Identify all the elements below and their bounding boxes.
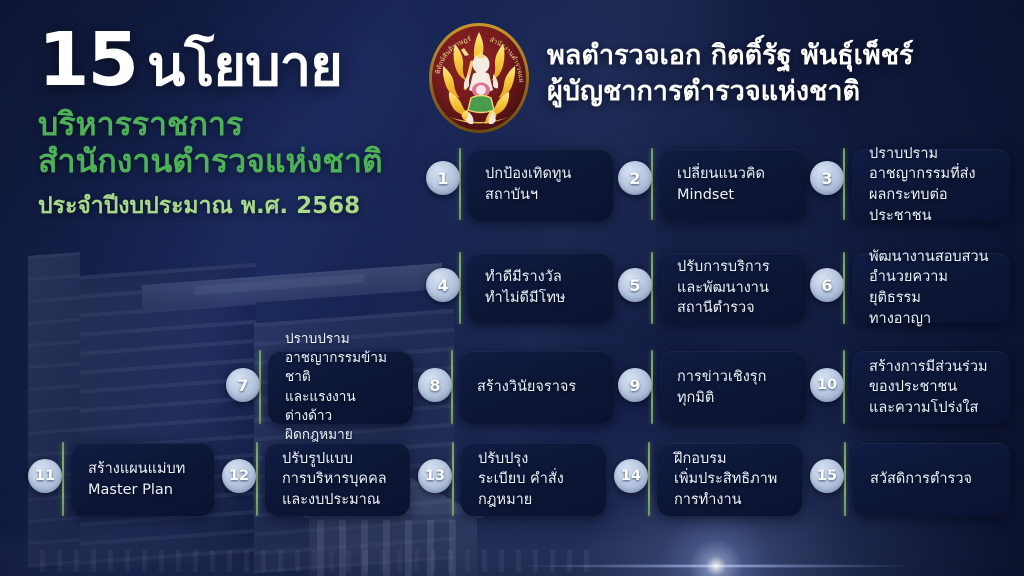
- policy-card-11[interactable]: สร้างแผนแม่บท Master Plan: [71, 443, 214, 516]
- policy-badge-5[interactable]: 5: [618, 268, 652, 302]
- policy-accent-1: [459, 148, 461, 220]
- policy-text-4: ทำดีมีรางวัล ทำไม่ดีมีโทษ: [468, 267, 579, 308]
- policy-text-1: ปกป้องเทิดทูน สถาบันฯ: [468, 164, 585, 205]
- policy-card-12[interactable]: ปรับรูปแบบ การบริหารบุคคล และงบประมาณ: [265, 443, 410, 516]
- policy-badge-2[interactable]: 2: [618, 161, 652, 195]
- policy-text-3: ปราบปราม อาชญากรรมที่ส่ง ผลกระทบต่อประชา…: [852, 144, 1010, 226]
- policy-text-6: พัฒนางานสอบสวน อำนวยความยุติธรรม ทางอาญา: [852, 247, 1010, 329]
- policy-text-11: สร้างแผนแม่บท Master Plan: [71, 459, 199, 500]
- policy-text-9: การข่าวเชิงรุก ทุกมิติ: [660, 367, 780, 408]
- policy-accent-13: [452, 442, 454, 516]
- officer-identity-block: พิทักษ์สันติราษฎร์ สำนักงานตำรวจแห่งชาติ…: [425, 18, 914, 138]
- poster-title-block: 15นโยบาย บริหารราชการ สำนักงานตำรวจแห่งช…: [38, 24, 418, 224]
- building-base-watermark: [0, 530, 640, 576]
- policy-text-7: ปราบปราม อาชญากรรมข้ามชาติ และแรงงานต่าง…: [268, 330, 413, 446]
- policy-text-14: ฝึกอบรม เพิ่มประสิทธิภาพ การทำงาน: [657, 449, 791, 511]
- poster-root: 15นโยบาย บริหารราชการ สำนักงานตำรวจแห่งช…: [0, 0, 1024, 576]
- policy-card-4[interactable]: ทำดีมีรางวัล ทำไม่ดีมีโทษ: [468, 253, 613, 323]
- policy-text-12: ปรับรูปแบบ การบริหารบุคคล และงบประมาณ: [265, 449, 401, 511]
- policy-badge-11[interactable]: 11: [28, 459, 62, 493]
- policy-card-10[interactable]: สร้างการมีส่วนร่วม ของประชาชน และความโปร…: [852, 351, 1010, 424]
- policy-accent-3: [843, 148, 845, 220]
- policy-badge-12[interactable]: 12: [222, 459, 256, 493]
- policy-count-word: นโยบาย: [147, 34, 342, 99]
- policy-card-9[interactable]: การข่าวเชิงรุก ทุกมิติ: [660, 351, 806, 424]
- policy-card-8[interactable]: สร้างวินัยจราจร: [460, 351, 613, 424]
- policy-card-14[interactable]: ฝึกอบรม เพิ่มประสิทธิภาพ การทำงาน: [657, 443, 802, 516]
- policy-text-15: สวัสดิการตำรวจ: [853, 469, 986, 490]
- policy-text-13: ปรับปรุง ระเบียบ คำสั่ง กฎหมาย: [461, 449, 578, 511]
- officer-position-title: ผู้บัญชาการตำรวจแห่งชาติ: [547, 74, 914, 110]
- policy-badge-7[interactable]: 7: [226, 368, 260, 402]
- subtitle-green: บริหารราชการ สำนักงานตำรวจแห่งชาติ: [38, 106, 418, 180]
- policy-card-3[interactable]: ปราบปราม อาชญากรรมที่ส่ง ผลกระทบต่อประชา…: [852, 149, 1010, 221]
- policy-text-10: สร้างการมีส่วนร่วม ของประชาชน และความโปร…: [852, 357, 1002, 419]
- officer-rank-and-name: พลตำรวจเอก กิตติ์รัฐ พันธุ์เพ็ชร์: [547, 38, 914, 74]
- policy-badge-4[interactable]: 4: [426, 268, 460, 302]
- policy-card-2[interactable]: เปลี่ยนแนวคิด Mindset: [660, 149, 806, 221]
- policy-badge-6[interactable]: 6: [810, 268, 844, 302]
- policy-card-1[interactable]: ปกป้องเทิดทูน สถาบันฯ: [468, 149, 613, 221]
- policy-card-5[interactable]: ปรับการบริการ และพัฒนางาน สถานีตำรวจ: [660, 253, 806, 323]
- lens-flare-streak: [436, 562, 996, 570]
- policy-accent-2: [651, 148, 653, 220]
- policy-accent-12: [256, 442, 258, 516]
- policy-card-6[interactable]: พัฒนางานสอบสวน อำนวยความยุติธรรม ทางอาญา: [852, 253, 1010, 323]
- policy-badge-10[interactable]: 10: [810, 368, 844, 402]
- policy-accent-15: [844, 442, 846, 516]
- policy-text-8: สร้างวินัยจราจร: [460, 377, 590, 398]
- lens-flare-core: [656, 506, 776, 576]
- policy-accent-14: [648, 442, 650, 516]
- policy-badge-9[interactable]: 9: [618, 368, 652, 402]
- policy-badge-14[interactable]: 14: [614, 459, 648, 493]
- policy-badge-3[interactable]: 3: [810, 161, 844, 195]
- policy-card-15[interactable]: สวัสดิการตำรวจ: [853, 443, 1010, 516]
- policy-accent-11: [62, 442, 64, 516]
- subtitle-line-1: บริหารราชการ: [38, 106, 418, 143]
- policy-text-5: ปรับการบริการ และพัฒนางาน สถานีตำรวจ: [660, 257, 784, 319]
- policy-badge-15[interactable]: 15: [810, 459, 844, 493]
- officer-name-block: พลตำรวจเอก กิตติ์รัฐ พันธุ์เพ็ชร์ ผู้บัญ…: [547, 18, 914, 110]
- policy-badge-8[interactable]: 8: [418, 368, 452, 402]
- policy-card-13[interactable]: ปรับปรุง ระเบียบ คำสั่ง กฎหมาย: [461, 443, 606, 516]
- policy-card-7[interactable]: ปราบปราม อาชญากรรมข้ามชาติ และแรงงานต่าง…: [268, 351, 413, 424]
- fiscal-year-label: ประจำปีงบประมาณ พ.ศ. 2568: [38, 188, 418, 224]
- policy-text-2: เปลี่ยนแนวคิด Mindset: [660, 164, 779, 205]
- subtitle-line-2: สำนักงานตำรวจแห่งชาติ: [38, 143, 418, 180]
- royal-thai-police-emblem: พิทักษ์สันติราษฎร์ สำนักงานตำรวจแห่งชาติ: [425, 18, 533, 138]
- policy-badge-13[interactable]: 13: [418, 459, 452, 493]
- policy-badge-1[interactable]: 1: [426, 161, 460, 195]
- policy-count: 15: [38, 17, 137, 103]
- page-title: 15นโยบาย: [38, 24, 418, 97]
